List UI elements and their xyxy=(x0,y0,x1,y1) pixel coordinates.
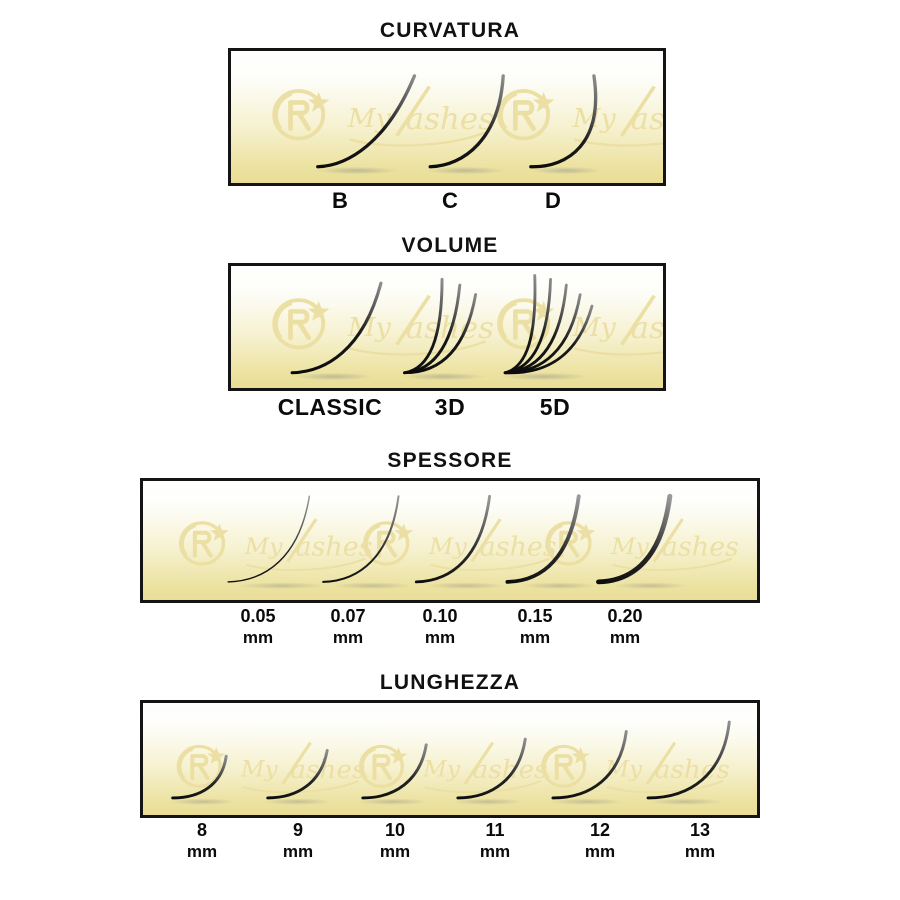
section-title-spessore: SPESSORE xyxy=(0,448,900,474)
svg-text:My: My xyxy=(240,757,279,782)
section-spessore: SPESSORE xyxy=(0,448,900,474)
svg-text:My: My xyxy=(422,757,461,782)
label-spessore-3: 0.15 mm xyxy=(517,606,552,648)
lash-fan-5d xyxy=(505,276,592,373)
label-curvatura-1: C xyxy=(442,188,458,214)
label-spessore-2: 0.10 mm xyxy=(422,606,457,648)
lash-curve-b xyxy=(318,76,415,167)
watermark-logo: My ashes xyxy=(181,519,373,570)
svg-text:ashes: ashes xyxy=(290,756,365,785)
watermark-logo: My ashes xyxy=(274,87,494,146)
svg-text:ashes: ashes xyxy=(406,102,494,136)
panel-volume: My ashes My ashes xyxy=(228,263,666,391)
svg-text:ashes: ashes xyxy=(296,532,373,562)
svg-text:ashes: ashes xyxy=(631,311,663,345)
spessore-labels: 0.05 mm 0.07 mm 0.10 mm 0.15 mm 0.20 mm xyxy=(0,606,900,656)
lash-thickness-4 xyxy=(599,496,670,582)
volume-illustration: My ashes My ashes xyxy=(231,266,663,388)
svg-text:My: My xyxy=(428,534,468,560)
lash-length-2 xyxy=(363,745,426,798)
watermark-logo: My ashes xyxy=(543,743,730,793)
lash-fan-3d xyxy=(405,279,476,372)
panel-spessore: My ashes My ashes xyxy=(140,478,760,603)
section-curvatura: CURVATURA xyxy=(0,18,900,44)
label-curvatura-2: D xyxy=(545,188,561,214)
lash-fan-classic xyxy=(292,283,381,373)
lash-length-1 xyxy=(268,750,327,797)
curvatura-labels: B C D xyxy=(0,188,900,222)
label-lunghezza-1: 9 mm xyxy=(283,820,313,862)
label-volume-2: 5D xyxy=(540,393,570,421)
svg-text:My: My xyxy=(610,534,650,560)
svg-text:ashes: ashes xyxy=(662,532,739,562)
spessore-illustration: My ashes My ashes xyxy=(143,481,757,600)
curvatura-illustration: My ashes My ashes xyxy=(231,51,663,183)
lash-length-0 xyxy=(173,756,226,798)
svg-text:My: My xyxy=(604,757,643,782)
watermark-logo: My ashes xyxy=(274,296,494,355)
section-lunghezza: LUNGHEZZA xyxy=(0,670,900,696)
section-title-volume: VOLUME xyxy=(0,233,900,259)
svg-text:ashes: ashes xyxy=(480,532,557,562)
lash-length-3 xyxy=(458,739,525,798)
label-volume-1: 3D xyxy=(435,393,465,421)
label-spessore-4: 0.20 mm xyxy=(607,606,642,648)
label-lunghezza-3: 11 mm xyxy=(480,820,510,862)
svg-text:My: My xyxy=(244,534,284,560)
label-volume-0: CLASSIC xyxy=(278,393,382,421)
section-title-lunghezza: LUNGHEZZA xyxy=(0,670,900,696)
volume-labels: CLASSIC 3D 5D xyxy=(0,393,900,429)
watermark-logo: My ashes xyxy=(499,87,663,146)
label-curvatura-0: B xyxy=(332,188,348,214)
panel-curvatura: My ashes My ashes xyxy=(228,48,666,186)
lash-length-4 xyxy=(553,731,626,797)
section-volume: VOLUME xyxy=(0,233,900,259)
panel-lunghezza: My ashes My ashes xyxy=(140,700,760,818)
label-spessore-0: 0.05 mm xyxy=(240,606,275,648)
lunghezza-illustration: My ashes My ashes xyxy=(143,703,757,815)
label-lunghezza-5: 13 mm xyxy=(685,820,715,862)
lash-thickness-2 xyxy=(416,496,489,582)
watermark-logo: My ashes xyxy=(178,743,365,793)
label-lunghezza-0: 8 mm xyxy=(187,820,217,862)
lash-length-5 xyxy=(648,722,729,798)
section-title-curvatura: CURVATURA xyxy=(0,18,900,44)
svg-text:ashes: ashes xyxy=(631,102,663,136)
lash-thickness-0 xyxy=(228,496,309,582)
lash-thickness-1 xyxy=(323,496,398,582)
watermark-logo: My ashes xyxy=(499,296,663,355)
lunghezza-labels: 8 mm 9 mm 10 mm 11 mm 12 mm 13 mm xyxy=(0,820,900,870)
label-spessore-1: 0.07 mm xyxy=(330,606,365,648)
lash-spec-chart: CURVATURA xyxy=(0,0,900,900)
watermark-logo: My ashes xyxy=(361,743,548,793)
lash-thickness-3 xyxy=(507,496,578,582)
lash-curve-c xyxy=(430,76,503,167)
lash-curve-d xyxy=(531,76,596,167)
svg-text:ashes: ashes xyxy=(473,756,548,785)
label-lunghezza-4: 12 mm xyxy=(585,820,615,862)
label-lunghezza-2: 10 mm xyxy=(380,820,410,862)
